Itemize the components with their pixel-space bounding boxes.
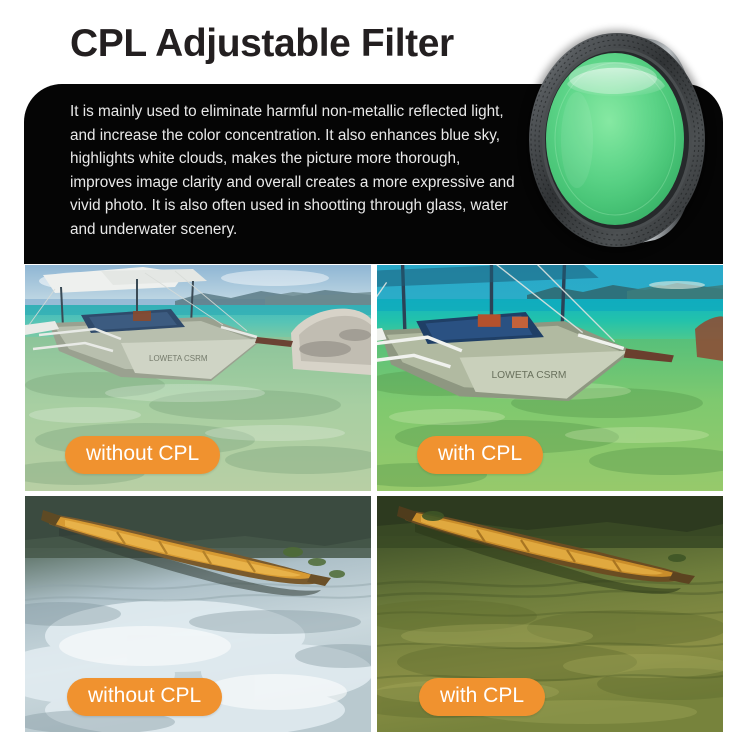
cpl-filter-icon: CPL [505, 12, 720, 262]
comparison-cell-canoe-without-cpl[interactable]: without CPL [25, 496, 371, 732]
comparison-grid: LOWETA CSRM [25, 265, 723, 732]
svg-text:LOWETA CSRM: LOWETA CSRM [491, 370, 566, 381]
product-infographic: CPL Adjustable Filter It is mainly used … [0, 0, 750, 750]
badge-with-cpl-canoe: with CPL [419, 678, 545, 716]
page-title: CPL Adjustable Filter [70, 22, 454, 67]
badge-without-cpl-canoe: without CPL [67, 678, 222, 716]
description-text: It is mainly used to eliminate harmful n… [70, 100, 518, 242]
comparison-cell-beach-with-cpl[interactable]: LOWETA CSRM [377, 265, 723, 491]
badge-with-cpl-beach: with CPL [417, 436, 543, 474]
comparison-cell-canoe-with-cpl[interactable]: with CPL [377, 496, 723, 732]
badge-without-cpl-beach: without CPL [65, 436, 220, 474]
comparison-cell-beach-without-cpl[interactable]: LOWETA CSRM [25, 265, 371, 491]
svg-text:LOWETA CSRM: LOWETA CSRM [149, 354, 208, 363]
